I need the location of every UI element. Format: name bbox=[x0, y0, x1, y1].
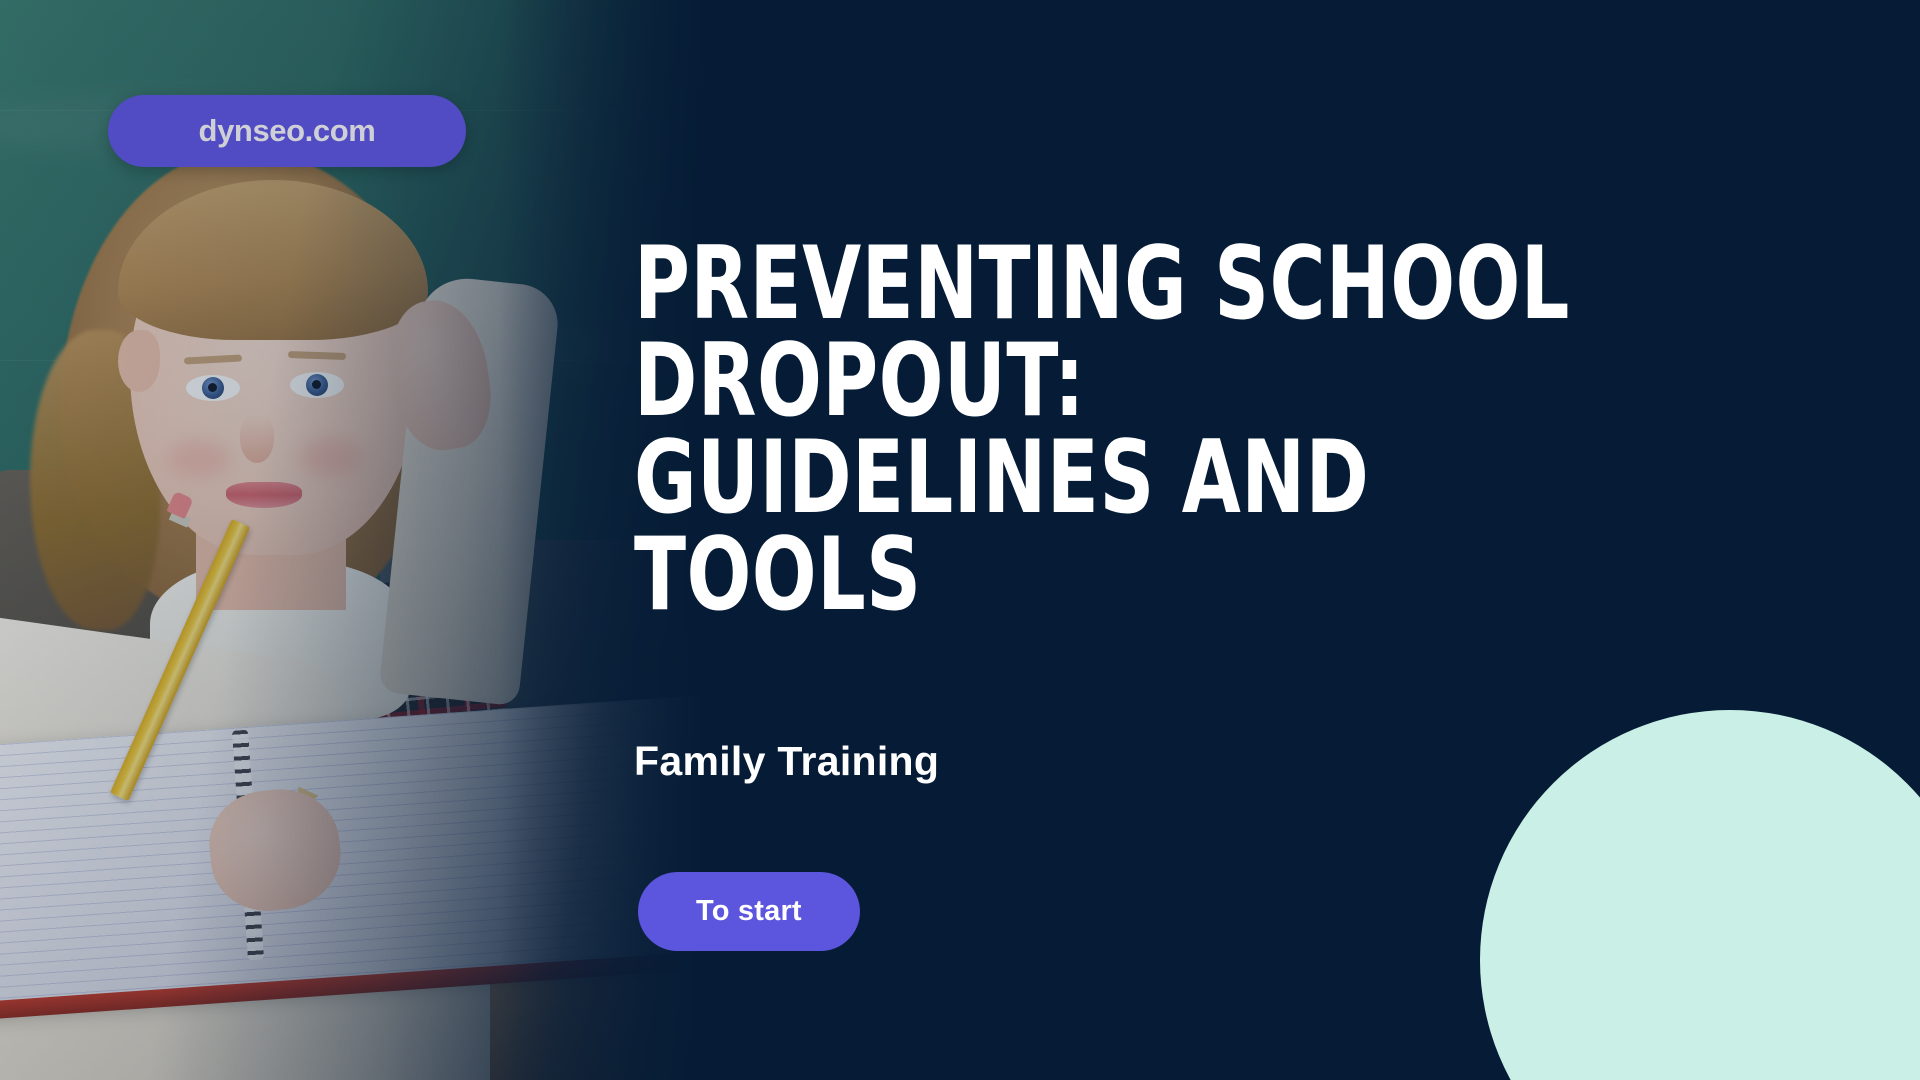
page-title: PREVENTING SCHOOL DROPOUT: GUIDELINES AN… bbox=[634, 235, 1575, 623]
site-badge[interactable]: dynseo.com bbox=[108, 95, 466, 167]
presentation-slide: dynseo.com PREVENTING SCHOOL DROPOUT: GU… bbox=[0, 0, 1920, 1080]
slide-subtitle: Family Training bbox=[634, 738, 939, 785]
slide-content: PREVENTING SCHOOL DROPOUT: GUIDELINES AN… bbox=[634, 0, 1920, 1080]
to-start-button[interactable]: To start bbox=[638, 872, 860, 951]
